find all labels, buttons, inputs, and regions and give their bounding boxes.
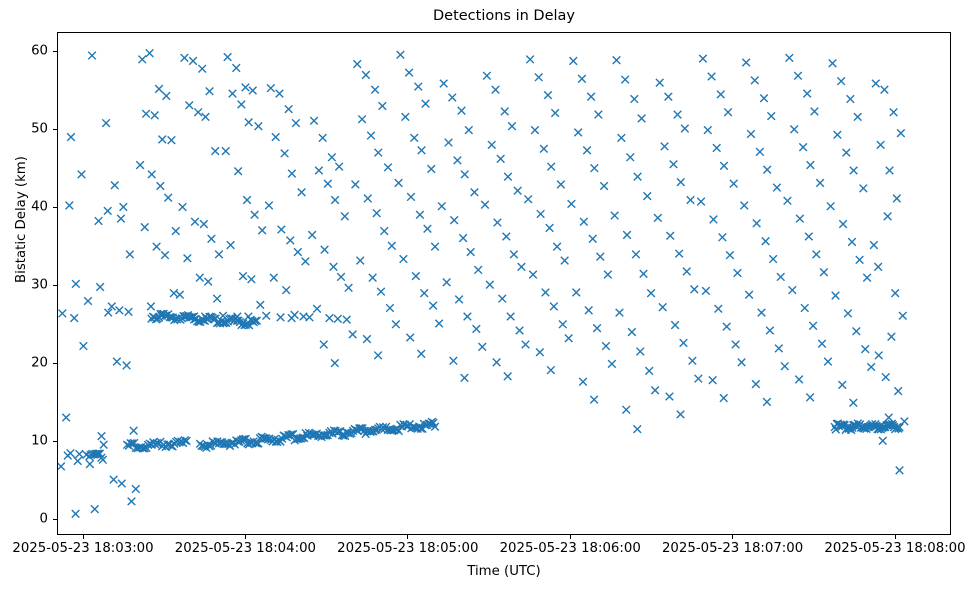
figure-canvas: Detections in Delay 01020304050602025-05… [0, 0, 979, 590]
y-tick-label: 60 [0, 44, 48, 59]
y-tick-label: 0 [0, 512, 48, 527]
x-tick-label: 2025-05-23 18:05:00 [337, 541, 478, 556]
x-tick-label: 2025-05-23 18:04:00 [175, 541, 316, 556]
x-axis-label: Time (UTC) [57, 564, 951, 579]
x-tick-label: 2025-05-23 18:07:00 [662, 541, 803, 556]
y-tick-label: 50 [0, 122, 48, 137]
x-tick-mark [570, 535, 571, 539]
x-tick-mark [83, 535, 84, 539]
x-tick-label: 2025-05-23 18:06:00 [500, 541, 641, 556]
x-tick-mark [407, 535, 408, 539]
x-tick-label: 2025-05-23 18:03:00 [12, 541, 153, 556]
x-tick-label: 2025-05-23 18:08:00 [824, 541, 965, 556]
page-title: Detections in Delay [57, 6, 951, 26]
x-tick-mark [895, 535, 896, 539]
x-tick-mark [245, 535, 246, 539]
x-tick-mark [732, 535, 733, 539]
y-axis-label: Bistatic Delay (km) [14, 156, 29, 283]
y-tick-label: 20 [0, 356, 48, 371]
scatter-points-layer [58, 33, 950, 534]
plot-area [57, 32, 951, 535]
marker-group [58, 49, 908, 517]
y-tick-label: 10 [0, 434, 48, 449]
